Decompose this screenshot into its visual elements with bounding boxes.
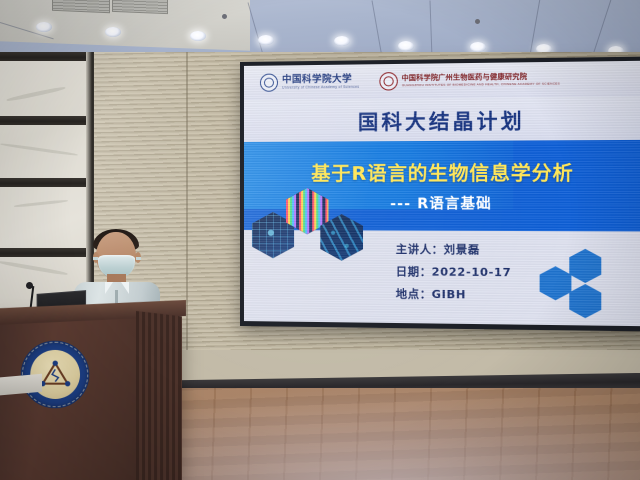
downlight-icon <box>105 27 121 37</box>
wall-trim-band <box>0 52 94 61</box>
presentation-screen[interactable]: 中国科学院大学 University of Chinese Academy of… <box>240 57 640 332</box>
shirt-collar <box>105 282 113 294</box>
hex-accent-1 <box>540 266 572 300</box>
downlight-icon <box>258 35 274 45</box>
lecture-hall-photo: 中国科学院大学 University of Chinese Academy of… <box>0 0 640 480</box>
logo-gibh: 中国科学院广州生物医药与健康研究院 GUANGZHOU INSTITUTES O… <box>379 70 566 91</box>
logo-ucas-text: 中国科学院大学 University of Chinese Academy of… <box>282 74 363 90</box>
lecture-subtitle: --- R语言基础 <box>390 193 492 214</box>
wall-trim-band <box>0 178 94 187</box>
hero-text-group: 基于R语言的生物信息学分析 --- R语言基础 <box>244 140 640 232</box>
logo-gibh-en: GUANGZHOU INSTITUTES OF BIOMEDICINE AND … <box>402 82 560 87</box>
slide-title-page: 中国科学院大学 University of Chinese Academy of… <box>244 61 640 326</box>
lecture-title: 基于R语言的生物信息学分析 <box>311 158 573 186</box>
downlight-icon <box>398 41 414 51</box>
wall-trim-band <box>0 116 94 125</box>
hvac-vent-icon <box>112 0 168 14</box>
meta-presenter: 主讲人：刘景磊 <box>396 241 512 258</box>
downlight-icon <box>475 19 480 24</box>
logo-ucas-en: University of Chinese Academy of Science… <box>282 85 359 89</box>
logo-gibh-text: 中国科学院广州生物医药与健康研究院 GUANGZHOU INSTITUTES O… <box>402 73 567 87</box>
wall-seam <box>186 52 188 350</box>
logo-ucas: 中国科学院大学 University of Chinese Academy of… <box>260 73 363 92</box>
meta-location: 地点：GIBH <box>396 285 512 302</box>
downlight-icon <box>222 14 227 19</box>
program-title-band: 国科大结晶计划 <box>244 96 640 142</box>
downlight-icon <box>190 31 206 41</box>
lecture-metadata: 主讲人：刘景磊 日期：2022-10-17 地点：GIBH <box>396 241 512 303</box>
slide-logo-strip: 中国科学院大学 University of Chinese Academy of… <box>244 61 640 100</box>
shirt-collar <box>121 282 129 294</box>
meta-date: 日期：2022-10-17 <box>396 263 512 280</box>
hex-accent-3 <box>569 284 601 318</box>
gibh-seal-icon <box>379 72 397 90</box>
slide-hero-band: 基于R语言的生物信息学分析 --- R语言基础 <box>244 140 640 232</box>
logo-ucas-cn: 中国科学院大学 <box>282 74 363 85</box>
podium <box>0 315 180 480</box>
hex-accent-2 <box>569 249 601 283</box>
ucas-seal-icon <box>260 74 278 92</box>
podium-side-panel <box>136 311 182 480</box>
mask-strap <box>136 257 141 260</box>
downlight-icon <box>334 36 350 46</box>
downlight-icon <box>36 22 52 32</box>
program-title: 国科大结晶计划 <box>358 104 525 135</box>
downlight-icon <box>470 42 486 52</box>
molecule-triangle-icon <box>40 360 71 388</box>
